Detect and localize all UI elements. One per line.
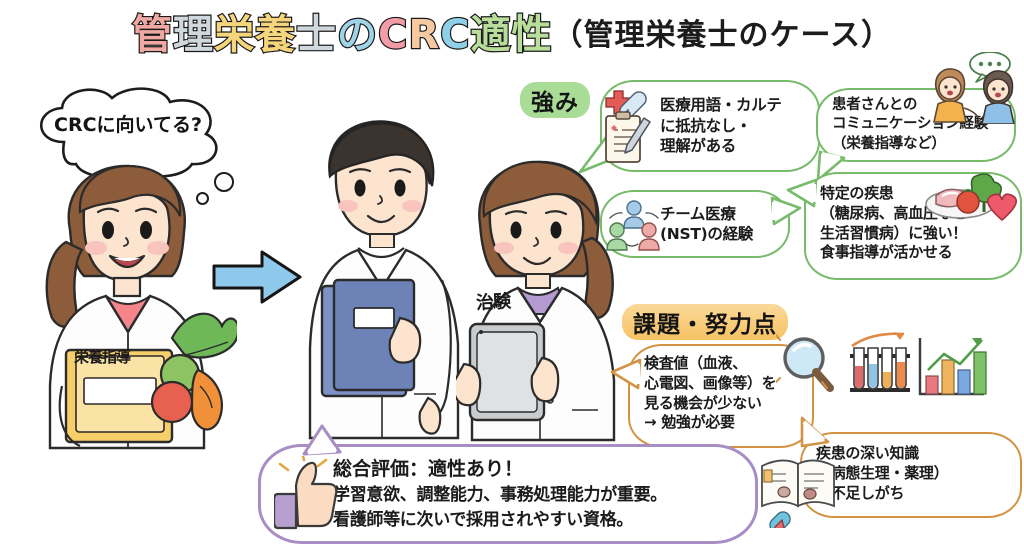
title-char-10: 性 <box>512 12 553 58</box>
thought-bubble-label: CRCに向いてる? <box>54 110 202 137</box>
dietitian-illustration <box>22 150 237 450</box>
title-char-4: 士 <box>296 12 337 58</box>
folder-label: 栄養指導 <box>74 346 130 367</box>
strength-text-medical-terms: 医療用語・カルテ に抵抗なし・ 理解がある <box>660 95 782 156</box>
challenge-text-lab-values: 検査値（血液、 心電図、画像等）を 見る機会が少ない → 勉強が必要 <box>644 354 776 433</box>
summary-bubble-tail <box>296 424 344 458</box>
title-subtitle: （管理栄養士のケース） <box>553 18 893 53</box>
two-people-talking-icon <box>924 52 1024 124</box>
transition-arrow <box>210 248 306 308</box>
title-char-6: C <box>378 12 408 58</box>
bubble-tail-specific-diseases <box>786 176 818 210</box>
clinical-trial-tablet <box>470 324 544 420</box>
bar-chart-icon <box>912 332 998 402</box>
title-char-2: 栄 <box>214 12 255 58</box>
title-char-9: 適 <box>471 12 512 58</box>
capsule-pill-icon <box>770 512 790 528</box>
test-tubes-icon <box>846 330 918 402</box>
strength-text-team-medicine: チーム医療 (NST)の経験 <box>660 204 753 245</box>
title-char-0: 管 <box>132 12 173 58</box>
magnifier-icon <box>776 332 836 402</box>
clipboard-icon <box>598 88 656 166</box>
thumbs-up-icon <box>274 456 340 540</box>
page-title: 管理栄養士のCRC適性（管理栄養士のケース） <box>0 8 1024 63</box>
food-plate-icon <box>920 168 1024 238</box>
title-char-1: 理 <box>173 12 214 58</box>
crc-male-illustration <box>296 112 471 442</box>
title-char-8: C <box>440 12 470 58</box>
challenges-badge: 課題・努力点 <box>622 304 788 340</box>
title-char-3: 養 <box>255 12 296 58</box>
tablet-label: 治験 <box>475 287 510 315</box>
bubble-tail-lab-values <box>610 356 642 392</box>
title-char-7: R <box>408 12 440 58</box>
open-book-icon <box>756 440 838 528</box>
heart-icon <box>988 194 1017 220</box>
strengths-badge: 強み <box>520 82 590 118</box>
summary-line-3: 看護師等に次いで採用されやすい資格。 <box>333 509 667 531</box>
three-person-group-icon <box>606 196 662 252</box>
infographic-canvas: 管理栄養士のCRC適性（管理栄養士のケース） CRCに向いてる? <box>0 0 1024 559</box>
summary-headline: 総合評価：適性あり！ <box>333 457 667 482</box>
title-char-5: の <box>337 12 378 58</box>
summary-line-2: 学習意欲、調整能力、事務処理能力が重要。 <box>333 484 667 506</box>
